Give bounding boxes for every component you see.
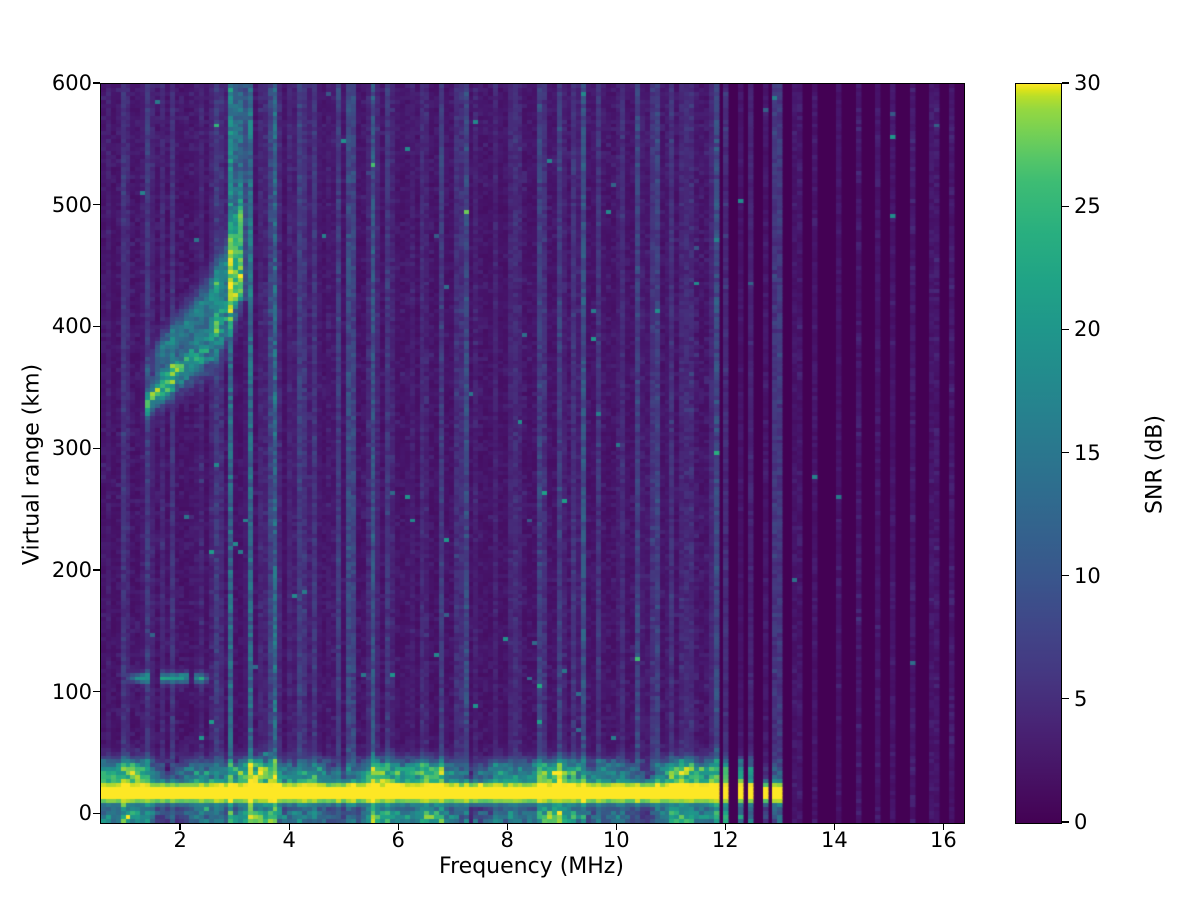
x-axis-label: Frequency (MHz) [100,854,963,879]
x-tick-label-14: 14 [821,828,848,852]
colorbar-tick-mark-25 [1062,206,1069,207]
x-tick-label-8: 8 [501,828,514,852]
y-tick-mark-100 [93,691,100,692]
colorbar-label: SNR (dB) [1143,285,1168,645]
y-axis-label: Virtual range (km) [20,285,45,645]
x-tick-mark-8 [507,823,508,830]
colorbar-tick-label-15: 15 [1074,441,1101,465]
x-tick-mark-2 [179,823,180,830]
colorbar-tick-mark-30 [1062,82,1069,83]
colorbar[interactable] [1015,83,1062,824]
colorbar-tick-mark-0 [1062,821,1069,822]
x-tick-label-12: 12 [712,828,739,852]
x-tick-label-10: 10 [603,828,630,852]
y-tick-mark-500 [93,204,100,205]
ionogram-heatmap [101,84,964,823]
ionogram-figure: IRF Uppsala SDR Ionosonde UP158 2025-11-… [0,0,1200,900]
x-tick-label-2: 2 [173,828,186,852]
y-tick-mark-600 [93,82,100,83]
y-tick-mark-400 [93,326,100,327]
colorbar-tick-mark-20 [1062,329,1069,330]
ionogram-plot-area[interactable] [100,83,965,824]
y-tick-mark-300 [93,448,100,449]
y-tick-label-600: 600 [52,71,92,95]
colorbar-tick-mark-15 [1062,452,1069,453]
x-tick-mark-16 [943,823,944,830]
x-tick-label-4: 4 [282,828,295,852]
x-tick-mark-12 [725,823,726,830]
y-tick-label-400: 400 [52,314,92,338]
colorbar-tick-label-25: 25 [1074,194,1101,218]
y-tick-label-500: 500 [52,193,92,217]
y-tick-mark-200 [93,569,100,570]
x-tick-mark-10 [616,823,617,830]
y-tick-mark-0 [93,813,100,814]
x-tick-label-6: 6 [392,828,405,852]
colorbar-tick-mark-10 [1062,575,1069,576]
y-tick-label-0: 0 [79,801,92,825]
y-tick-label-300: 300 [52,436,92,460]
colorbar-tick-label-5: 5 [1074,687,1087,711]
x-tick-label-16: 16 [930,828,957,852]
colorbar-tick-label-30: 30 [1074,71,1101,95]
y-tick-label-200: 200 [52,558,92,582]
colorbar-tick-mark-5 [1062,698,1069,699]
x-tick-mark-14 [834,823,835,830]
y-tick-label-100: 100 [52,680,92,704]
colorbar-tick-label-20: 20 [1074,317,1101,341]
x-tick-mark-6 [398,823,399,830]
x-tick-mark-4 [289,823,290,830]
colorbar-tick-label-0: 0 [1074,810,1087,834]
colorbar-tick-label-10: 10 [1074,564,1101,588]
